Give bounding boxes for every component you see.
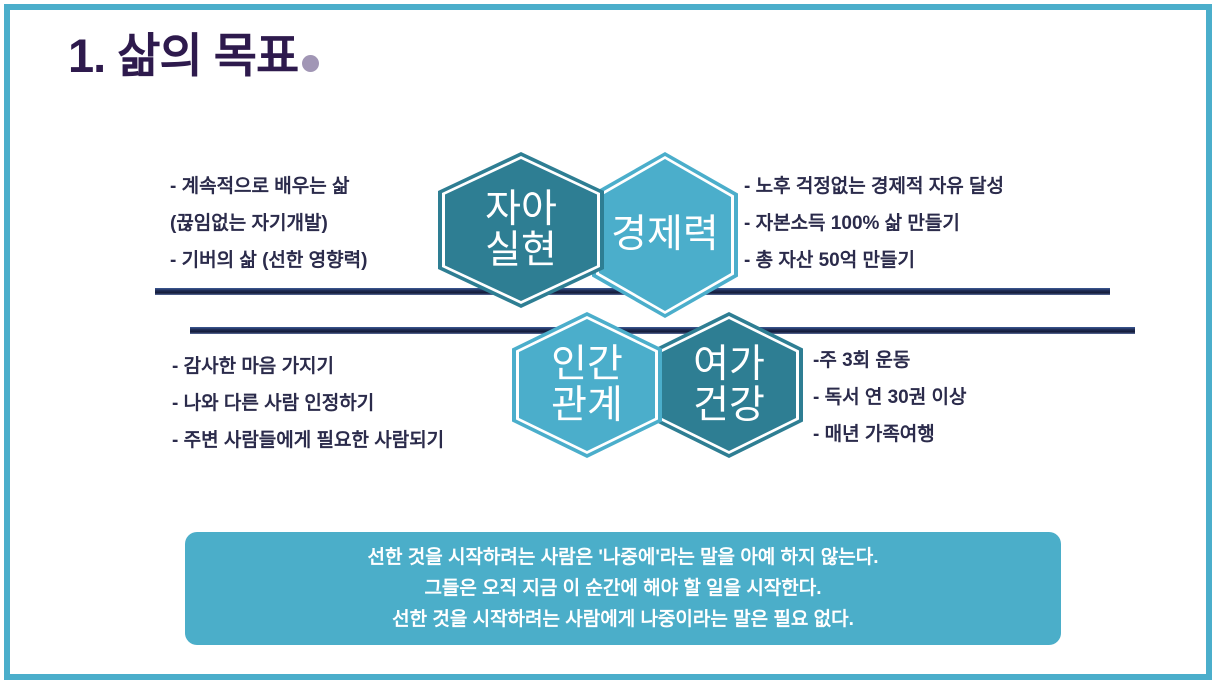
bullet-item: - 총 자산 50억 만들기 <box>744 242 1004 279</box>
page-title-text: 1. 삶의 목표 <box>68 29 298 82</box>
hexagon-self-realization[interactable]: 자아 실현 <box>438 152 604 308</box>
bullet-item: - 기버의 삶 (선한 영향력) <box>170 242 367 279</box>
bullet-item: - 감사한 마음 가지기 <box>172 348 444 385</box>
page-title: 1. 삶의 목표 <box>68 30 319 82</box>
quote-line: 그들은 오직 지금 이 순간에 해야 할 일을 시작한다. <box>424 573 821 604</box>
bullet-item: - 독서 연 30권 이상 <box>813 379 966 416</box>
title-dot-icon <box>302 55 319 72</box>
bullet-item: -주 3회 운동 <box>813 342 966 379</box>
hexagon-label-self-realization: 자아 실현 <box>485 189 557 272</box>
quote-callout-box: 선한 것을 시작하려는 사람은 '나중에'라는 말을 아예 하지 않는다. 그들… <box>185 532 1061 645</box>
divider-line-bottom <box>190 327 1135 334</box>
hexagon-label-financial-power: 경제력 <box>611 214 719 255</box>
bullet-item: - 나와 다른 사람 인정하기 <box>172 385 444 422</box>
bullet-item: (끊임없는 자기개발) <box>170 205 367 242</box>
bullet-item: - 주변 사람들에게 필요한 사람되기 <box>172 422 444 459</box>
bullet-item: - 매년 가족여행 <box>813 416 966 453</box>
quote-line: 선한 것을 시작하려는 사람은 '나중에'라는 말을 아예 하지 않는다. <box>367 542 878 573</box>
bullet-item: - 노후 걱정없는 경제적 자유 달성 <box>744 168 1004 205</box>
hexagon-label-leisure-health: 여가 건강 <box>693 344 765 427</box>
bullet-item: - 계속적으로 배우는 삶 <box>170 168 367 205</box>
quote-line: 선한 것을 시작하려는 사람에게 나중이라는 말은 필요 없다. <box>392 604 854 635</box>
bullet-list-financial-power: - 노후 걱정없는 경제적 자유 달성 - 자본소득 100% 삶 만들기 - … <box>744 168 1004 279</box>
bullet-item: - 자본소득 100% 삶 만들기 <box>744 205 1004 242</box>
bullet-list-self-realization: - 계속적으로 배우는 삶 (끊임없는 자기개발) - 기버의 삶 (선한 영향… <box>170 168 367 279</box>
slide-canvas: 1. 삶의 목표 자아 실현 경제력 인간 관계 여가 건강 - 계속적으로 배… <box>0 0 1216 684</box>
bullet-list-leisure-health: -주 3회 운동 - 독서 연 30권 이상 - 매년 가족여행 <box>813 342 966 453</box>
hexagon-label-human-relations: 인간 관계 <box>551 344 623 427</box>
bullet-list-human-relations: - 감사한 마음 가지기 - 나와 다른 사람 인정하기 - 주변 사람들에게 … <box>172 348 444 459</box>
